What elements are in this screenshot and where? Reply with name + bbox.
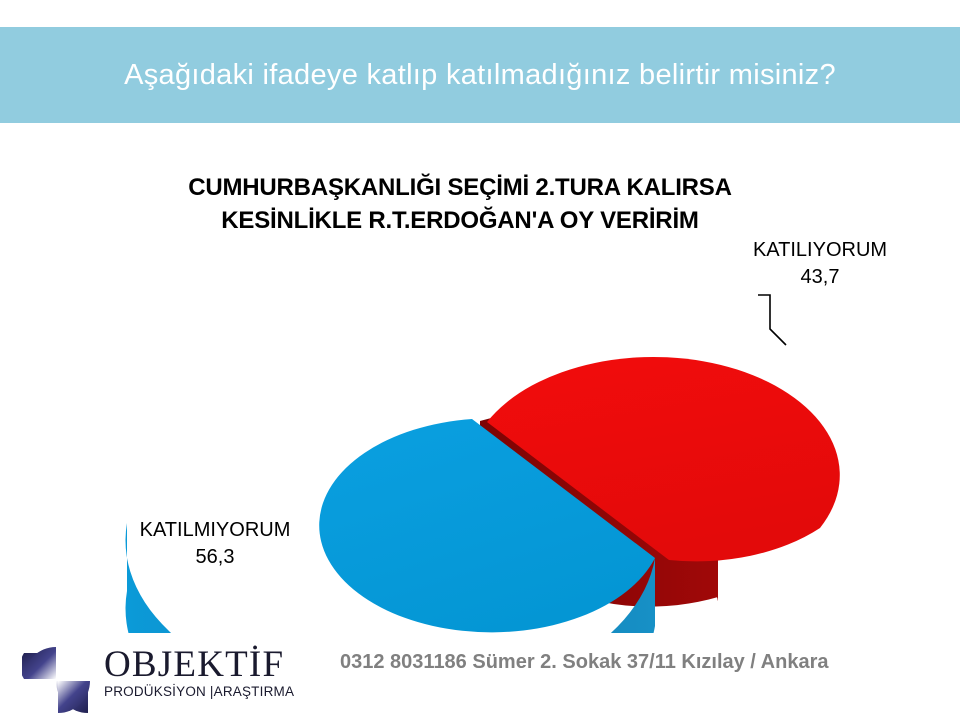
data-label-katiliyorum: KATILIYORUM 43,7 bbox=[700, 237, 940, 291]
logo-tagline: PRODÜKSİYON |ARAŞTIRMA bbox=[104, 684, 319, 700]
data-label-katilmiyorum-value: 56,3 bbox=[90, 544, 340, 571]
survey-question-title: Aşağıdaki ifadeye katlıp katılmadığınız … bbox=[0, 27, 960, 123]
data-label-katiliyorum-name: KATILIYORUM bbox=[700, 237, 940, 264]
callout-leader-line bbox=[758, 295, 786, 345]
footer-contact-info: 0312 8031186 Sümer 2. Sokak 37/11 Kızıla… bbox=[340, 651, 900, 674]
logo-wordmark: OBJEKTİF bbox=[104, 645, 319, 685]
header-banner: Aşağıdaki ifadeye katlıp katılmadığınız … bbox=[0, 27, 960, 123]
company-logo: OBJEKTİF PRODÜKSİYON |ARAŞTIRMA bbox=[22, 641, 322, 713]
data-label-katiliyorum-value: 43,7 bbox=[700, 264, 940, 291]
pie-chart-container: CUMHURBAŞKANLIĞI SEÇİMİ 2.TURA KALIRSA K… bbox=[0, 123, 960, 633]
footer: OBJEKTİF PRODÜKSİYON |ARAŞTIRMA 0312 803… bbox=[0, 633, 960, 720]
data-label-katilmiyorum-name: KATILMIYORUM bbox=[90, 517, 340, 544]
data-label-katilmiyorum: KATILMIYORUM 56,3 bbox=[90, 517, 340, 571]
logo-text-block: OBJEKTİF PRODÜKSİYON |ARAŞTIRMA bbox=[104, 645, 319, 700]
objektif-logo-mark bbox=[22, 643, 100, 713]
